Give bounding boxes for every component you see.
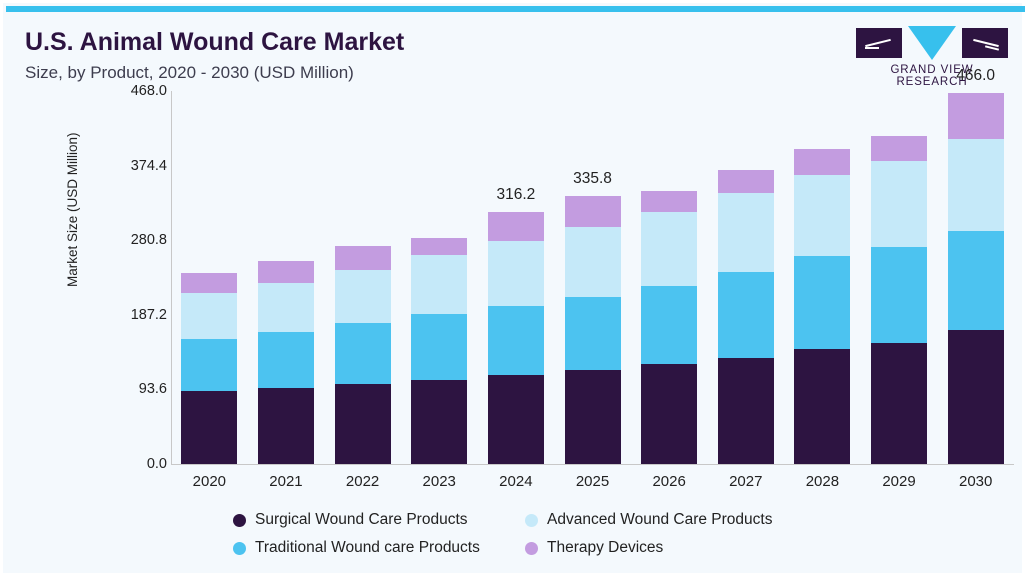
logo-triangle-icon	[908, 26, 956, 60]
y-tick-label: 280.8	[81, 232, 167, 248]
legend-label: Surgical Wound Care Products	[255, 511, 468, 529]
page-title: U.S. Animal Wound Care Market	[25, 28, 404, 57]
y-tick-label: 374.4	[81, 158, 167, 174]
bar-value-label: 466.0	[921, 67, 1025, 85]
logo-left-block-icon	[856, 28, 902, 58]
legend-label: Traditional Wound care Products	[255, 539, 480, 557]
logo-left-stroke2-icon	[865, 47, 879, 49]
plot-area: Market Size (USD Million) 0.093.6187.228…	[3, 91, 1025, 491]
y-axis-ticks: 0.093.6187.2280.8374.4468.0	[17, 91, 167, 491]
y-tick-label: 468.0	[81, 83, 167, 99]
logo-marks	[856, 26, 1008, 62]
legend-color-dot	[525, 542, 538, 555]
legend-item[interactable]: Surgical Wound Care Products	[233, 511, 468, 529]
legend-color-dot	[233, 514, 246, 527]
y-tick-label: 93.6	[81, 381, 167, 397]
legend-color-dot	[233, 542, 246, 555]
page-subtitle: Size, by Product, 2020 - 2030 (USD Milli…	[25, 63, 354, 83]
x-axis-ticks: 2020202120222023202420252026202720282029…	[171, 91, 1014, 491]
legend-label: Advanced Wound Care Products	[547, 511, 772, 529]
legend-item[interactable]: Advanced Wound Care Products	[525, 511, 772, 529]
legend-label: Therapy Devices	[547, 539, 663, 557]
legend-color-dot	[525, 514, 538, 527]
chart-legend: Surgical Wound Care ProductsAdvanced Wou…	[3, 503, 1025, 573]
y-tick-label: 0.0	[81, 456, 167, 472]
logo-left-stroke-icon	[865, 39, 891, 47]
legend-item[interactable]: Therapy Devices	[525, 539, 663, 557]
y-tick-label: 187.2	[81, 307, 167, 323]
chart-header: U.S. Animal Wound Care Market Size, by P…	[3, 12, 1025, 84]
logo-right-block-icon	[962, 28, 1008, 58]
x-tick-label: 2030	[921, 473, 1025, 490]
chart-container: U.S. Animal Wound Care Market Size, by P…	[0, 0, 1025, 576]
legend-item[interactable]: Traditional Wound care Products	[233, 539, 480, 557]
